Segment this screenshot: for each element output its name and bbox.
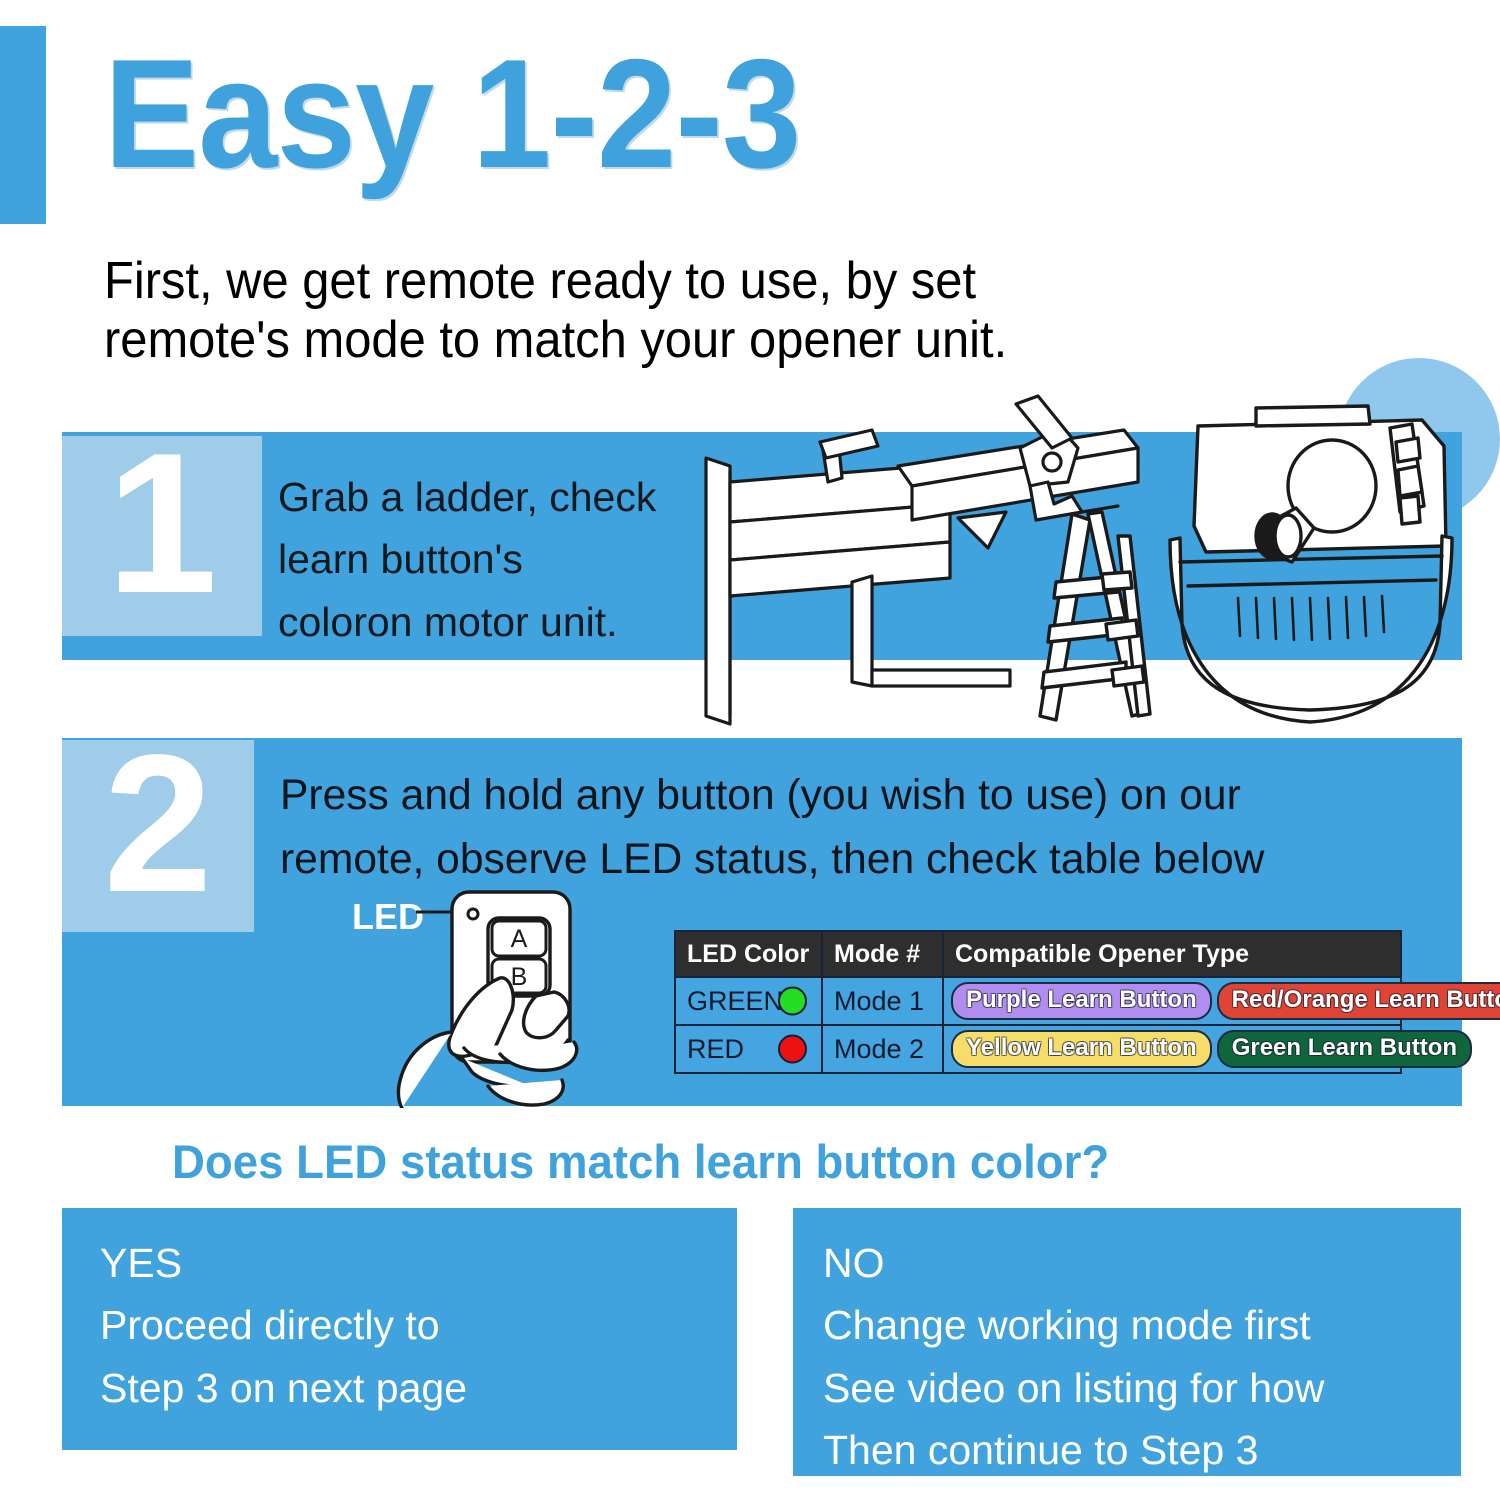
subtitle: First, we get remote ready to use, by se… <box>104 252 1213 371</box>
table-row: GREEN Mode 1 Purple Learn ButtonRed/Oran… <box>675 977 1401 1025</box>
step-1-panel <box>62 432 1462 660</box>
pill-yellow-learn-button: Yellow Learn Button <box>951 1030 1212 1068</box>
page-title: Easy 1-2-3 <box>104 36 800 191</box>
pill-red-orange-learn-button: Red/Orange Learn Button <box>1217 982 1500 1020</box>
step-1-line-2: learn button's <box>278 528 656 590</box>
answer-yes-heading: YES <box>100 1232 467 1294</box>
cell-led-color-red: RED <box>675 1025 822 1073</box>
cell-mode-1: Mode 1 <box>822 977 943 1025</box>
answer-no-panel: NO Change working mode first See video o… <box>793 1208 1461 1476</box>
subtitle-line-2: remote's mode to match your opener unit. <box>104 311 1213 370</box>
header-led-color: LED Color <box>675 931 822 977</box>
pill-green-learn-button: Green Learn Button <box>1217 1030 1472 1068</box>
step-2-text: Press and hold any button (you wish to u… <box>280 764 1264 891</box>
led-indicator-dot <box>468 909 478 919</box>
led-mode-table: LED Color Mode # Compatible Opener Type … <box>674 930 1402 1074</box>
remote-button-a-label: A <box>511 925 528 953</box>
header-mode-number: Mode # <box>822 931 943 977</box>
step-2-line-2: remote, observe LED status, then check t… <box>280 828 1264 892</box>
table-row: RED Mode 2 Yellow Learn ButtonGreen Lear… <box>675 1025 1401 1073</box>
remote-control-illustration: A B <box>340 890 680 1108</box>
cell-openers-mode-2: Yellow Learn ButtonGreen Learn Button <box>943 1025 1401 1073</box>
decision-question: Does LED status match learn button color… <box>172 1134 1109 1189</box>
cell-openers-mode-1: Purple Learn ButtonRed/Orange Learn Butt… <box>943 977 1401 1025</box>
answer-yes-line-2: Step 3 on next page <box>100 1357 467 1419</box>
table-header-row: LED Color Mode # Compatible Opener Type <box>675 931 1401 977</box>
step-2-number-badge: 2 <box>62 740 254 932</box>
answer-no-line-2: See video on listing for how <box>823 1357 1324 1419</box>
step-1-line-1: Grab a ladder, check <box>278 466 656 528</box>
led-dot-red-icon <box>778 1035 807 1064</box>
answer-yes-panel: YES Proceed directly to Step 3 on next p… <box>62 1208 737 1450</box>
answer-no-heading: NO <box>823 1232 1324 1294</box>
step-1-text: Grab a ladder, check learn button's colo… <box>278 466 656 653</box>
remote-button-b-label: B <box>511 963 528 991</box>
hand-illustration <box>398 978 576 1108</box>
step-1-line-3: coloron motor unit. <box>278 591 656 653</box>
answer-yes-line-1: Proceed directly to <box>100 1294 467 1356</box>
step-2-number: 2 <box>62 726 254 922</box>
answer-no-text: NO Change working mode first See video o… <box>823 1232 1324 1481</box>
led-color-label-green: GREEN <box>687 986 783 1017</box>
answer-no-line-1: Change working mode first <box>823 1294 1324 1356</box>
led-dot-green-icon <box>778 987 807 1016</box>
step-1-number: 1 <box>62 424 262 624</box>
answer-no-line-3: Then continue to Step 3 <box>823 1419 1324 1481</box>
pill-purple-learn-button: Purple Learn Button <box>951 982 1212 1020</box>
step-1-number-badge: 1 <box>62 436 262 636</box>
cell-mode-2: Mode 2 <box>822 1025 943 1073</box>
led-color-label-red: RED <box>687 1034 744 1065</box>
answer-yes-text: YES Proceed directly to Step 3 on next p… <box>100 1232 467 1419</box>
step-2-line-1: Press and hold any button (you wish to u… <box>280 764 1264 828</box>
header-compatible-opener-type: Compatible Opener Type <box>943 931 1401 977</box>
header-accent-bar <box>0 26 46 224</box>
subtitle-line-1: First, we get remote ready to use, by se… <box>104 252 1213 311</box>
cell-led-color-green: GREEN <box>675 977 822 1025</box>
